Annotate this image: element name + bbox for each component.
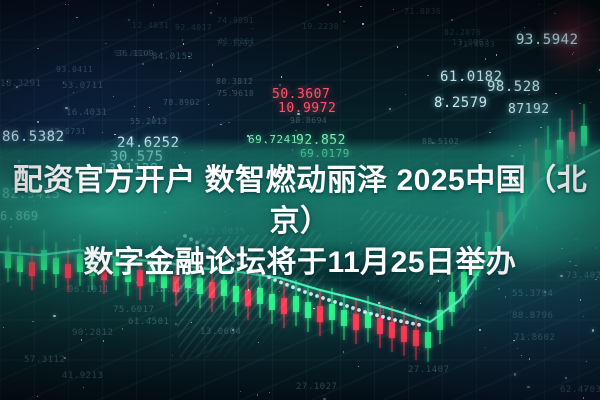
vignette-overlay	[0, 0, 600, 400]
news-banner: 50.360710.997298.869492.85269.017969.724…	[0, 0, 600, 400]
